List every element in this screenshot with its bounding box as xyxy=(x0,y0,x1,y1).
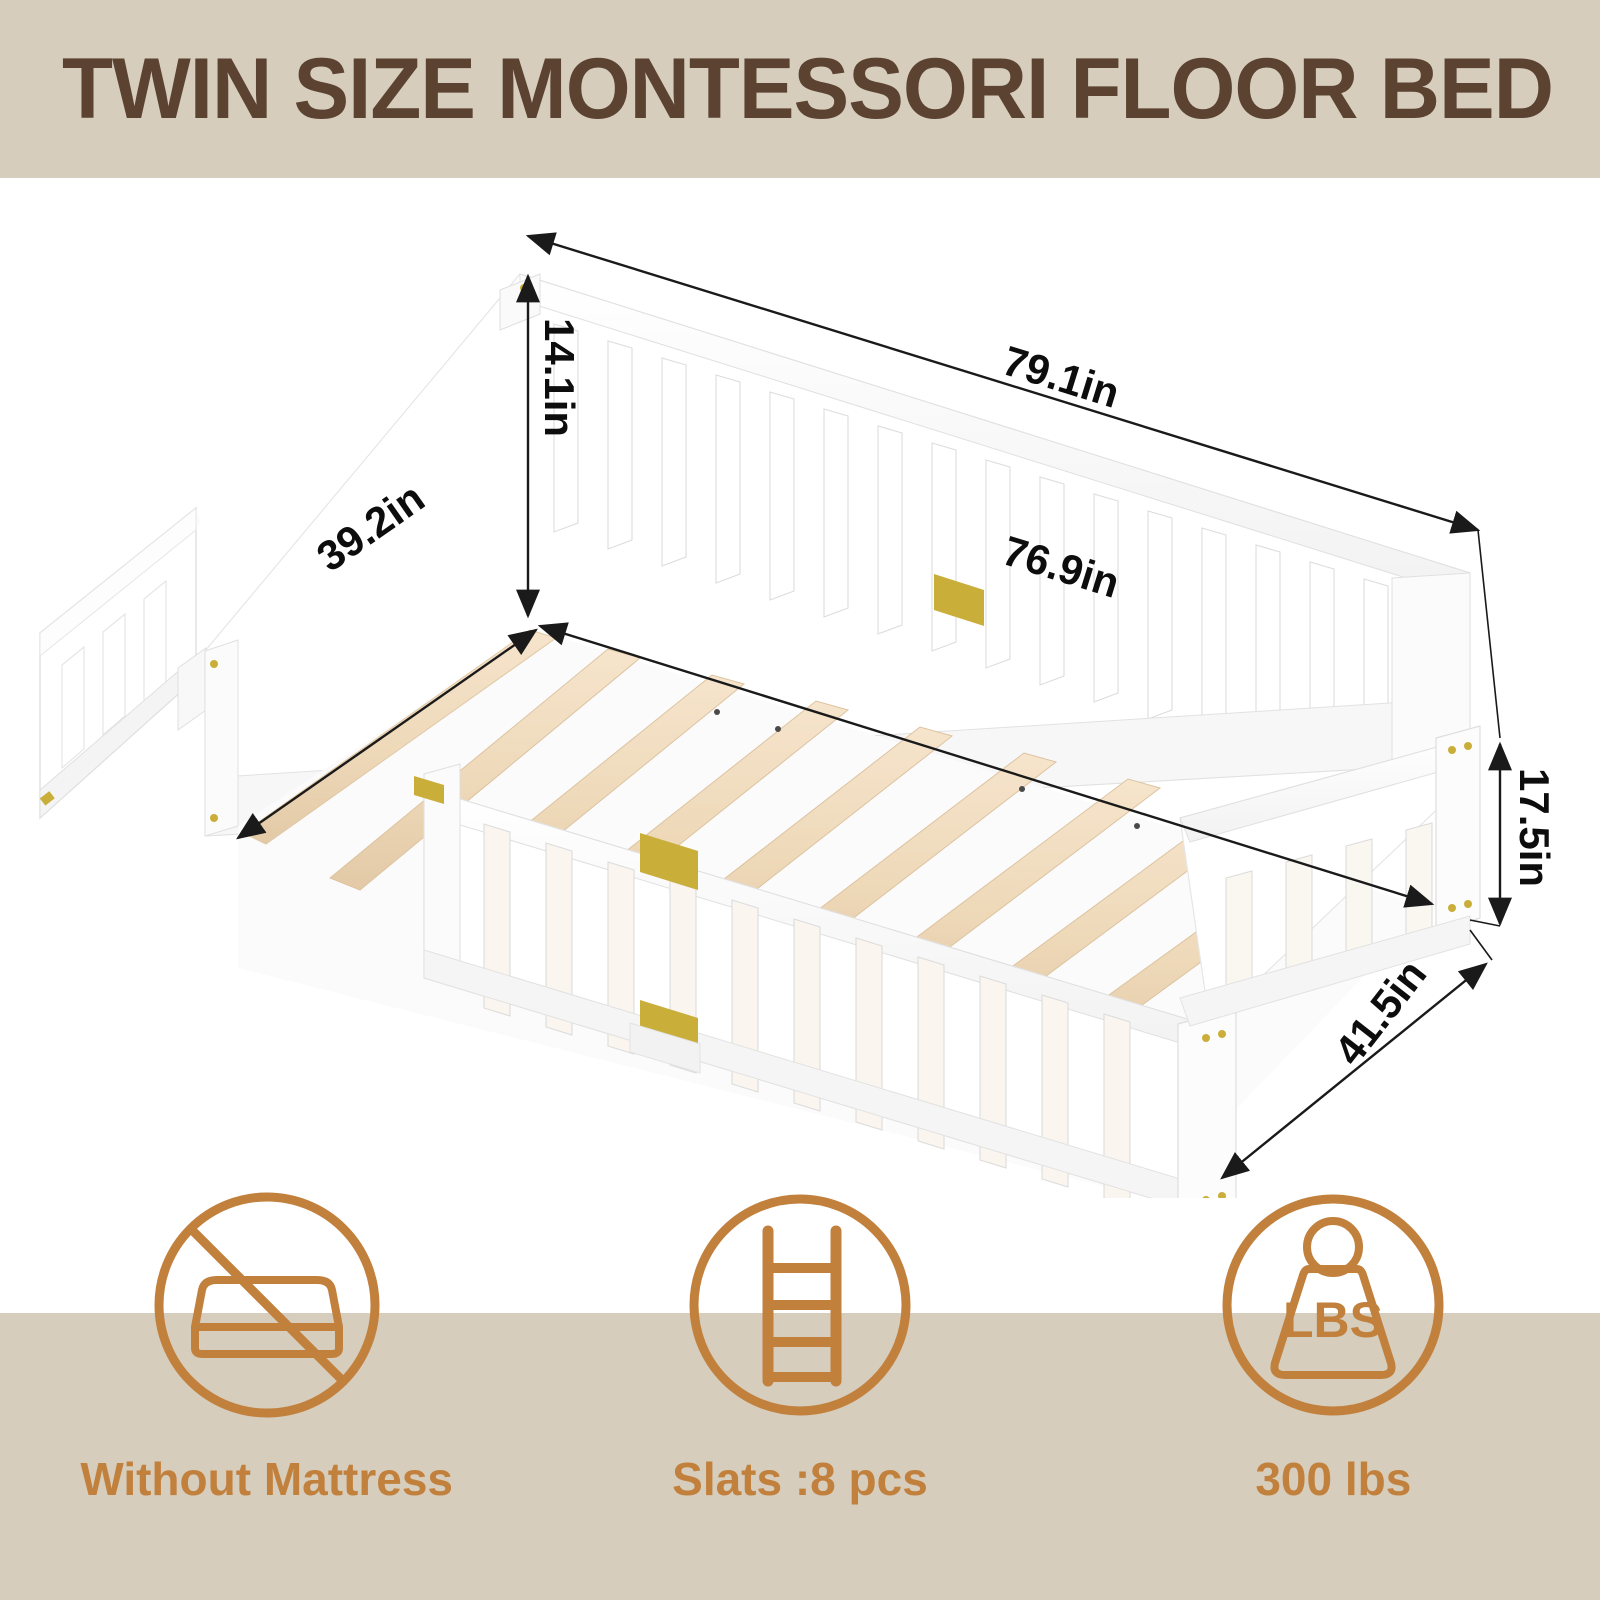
weight-icon-inner-text: LBS xyxy=(1283,1292,1383,1348)
dim-label-outer-length: 79.1in xyxy=(997,337,1125,417)
weight-lbs-icon: LBS xyxy=(1213,1185,1453,1425)
corner-post xyxy=(1436,726,1480,932)
feature-label-slats: Slats :8 pcs xyxy=(672,1452,928,1506)
feature-without-mattress: Without Mattress xyxy=(0,1180,533,1580)
dim-label-rail-height: 14.1in xyxy=(536,318,583,437)
page-title: TWIN SIZE MONTESSORI FLOOR BED xyxy=(62,40,1553,139)
weight-lbs-icon-wrap: LBS xyxy=(1213,1180,1453,1430)
feature-label-without-mattress: Without Mattress xyxy=(80,1452,453,1506)
title-band: TWIN SIZE MONTESSORI FLOOR BED xyxy=(0,0,1600,178)
no-mattress-icon-wrap xyxy=(147,1180,387,1430)
gate-panel xyxy=(40,508,206,818)
ladder-slats-icon-wrap xyxy=(680,1180,920,1430)
ladder-slats-icon xyxy=(680,1185,920,1425)
feature-slats: Slats :8 pcs xyxy=(533,1180,1066,1580)
dim-label-post-height: 17.5in xyxy=(1511,768,1558,887)
feature-weight-capacity: LBS 300 lbs xyxy=(1067,1180,1600,1580)
product-illustration: 79.1in 76.9in 14.1in 39.2in 17.5in 41.5i… xyxy=(0,178,1600,1198)
no-mattress-icon xyxy=(147,1185,387,1425)
feature-row: Without Mattress Slats :8 pcs xyxy=(0,1180,1600,1580)
feature-label-weight: 300 lbs xyxy=(1255,1452,1411,1506)
